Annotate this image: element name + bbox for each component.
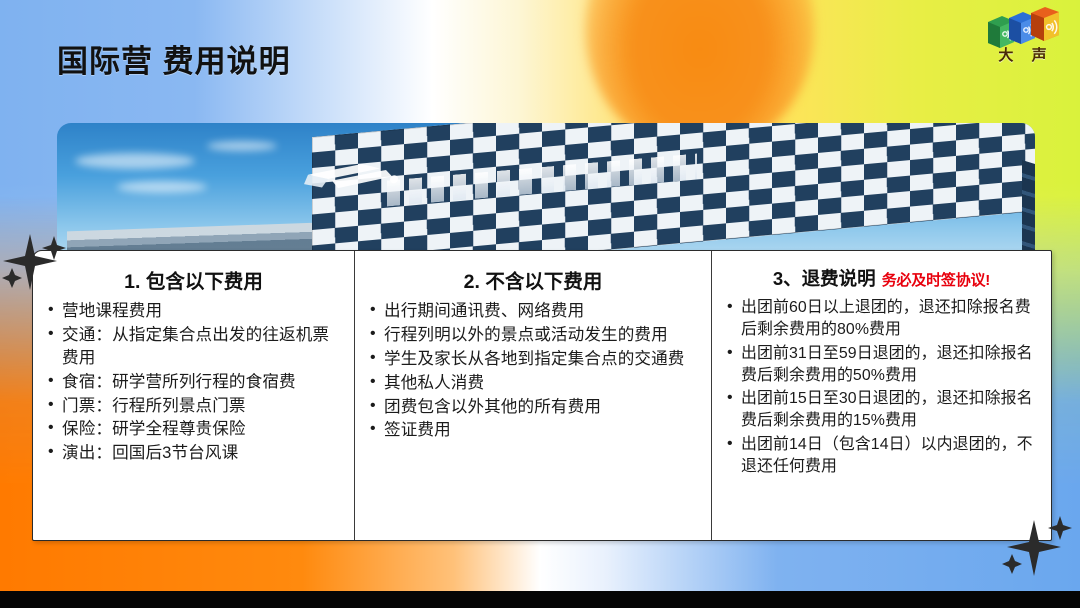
cloud-shape [75,153,195,169]
list-item: 出团前14日（包含14日）以内退团的，不退还任何费用 [724,434,1039,479]
column-heading: 3、退费说明务必及时签协议! [724,265,1039,291]
list-item: 出行期间通讯费、网络费用 [367,300,699,323]
urgent-warning-text: 务必及时签协议! [882,272,990,289]
list-item: 其他私人消费 [367,372,699,395]
column-excluded-costs: 2. 不含以下费用 出行期间通讯费、网络费用 行程列明以外的景点或活动发生的费用… [355,251,712,540]
slide-canvas: 国际营 费用说明 [0,0,1080,608]
cost-details-card: 1. 包含以下费用 营地课程费用 交通：从指定集合点出发的往返机票费用 食宿：研… [32,250,1052,541]
column-refund-policy: 3、退费说明务必及时签协议! 出团前60日以上退团的，退还扣除报名费后剩余费用的… [712,251,1051,540]
list-item: 保险：研学全程尊贵保险 [45,418,342,441]
list-item: 门票：行程所列景点门票 [45,395,342,418]
brand-logo: 大 声 [986,4,1066,70]
refund-policy-list: 出团前60日以上退团的，退还扣除报名费后剩余费用的80%费用 出团前31日至59… [724,297,1039,478]
list-item: 营地课程费用 [45,300,342,323]
list-item: 食宿：研学营所列行程的食宿费 [45,371,342,394]
column-included-costs: 1. 包含以下费用 营地课程费用 交通：从指定集合点出发的往返机票费用 食宿：研… [33,251,355,540]
list-item: 演出：回国后3节台风课 [45,442,342,465]
cloud-shape [207,141,277,151]
column-heading-text: 3、退费说明 [773,268,876,289]
logo-text: 大 声 [986,44,1066,65]
sparkle-icon [1000,514,1076,580]
page-title: 国际营 费用说明 [57,36,291,81]
list-item: 签证费用 [367,419,699,442]
excluded-costs-list: 出行期间通讯费、网络费用 行程列明以外的景点或活动发生的费用 学生及家长从各地到… [367,300,699,442]
list-item: 行程列明以外的景点或活动发生的费用 [367,324,699,347]
list-item: 交通：从指定集合点出发的往返机票费用 [45,324,342,370]
list-item: 团费包含以外其他的所有费用 [367,396,699,419]
list-item: 学生及家长从各地到指定集合点的交通费 [367,348,699,371]
bottom-letterbox-bar [0,591,1080,608]
column-heading: 1. 包含以下费用 [45,265,342,294]
column-heading-text: 1. 包含以下费用 [124,271,263,293]
list-item: 出团前31日至59日退团的，退还扣除报名费后剩余费用的50%费用 [724,343,1039,388]
sparkle-icon [2,232,74,294]
column-heading: 2. 不含以下费用 [367,265,699,294]
list-item: 出团前15日至30日退团的，退还扣除报名费后剩余费用的15%费用 [724,388,1039,433]
cloud-shape [117,181,207,193]
column-heading-text: 2. 不含以下费用 [464,271,603,293]
list-item: 出团前60日以上退团的，退还扣除报名费后剩余费用的80%费用 [724,297,1039,342]
included-costs-list: 营地课程费用 交通：从指定集合点出发的往返机票费用 食宿：研学营所列行程的食宿费… [45,300,342,465]
